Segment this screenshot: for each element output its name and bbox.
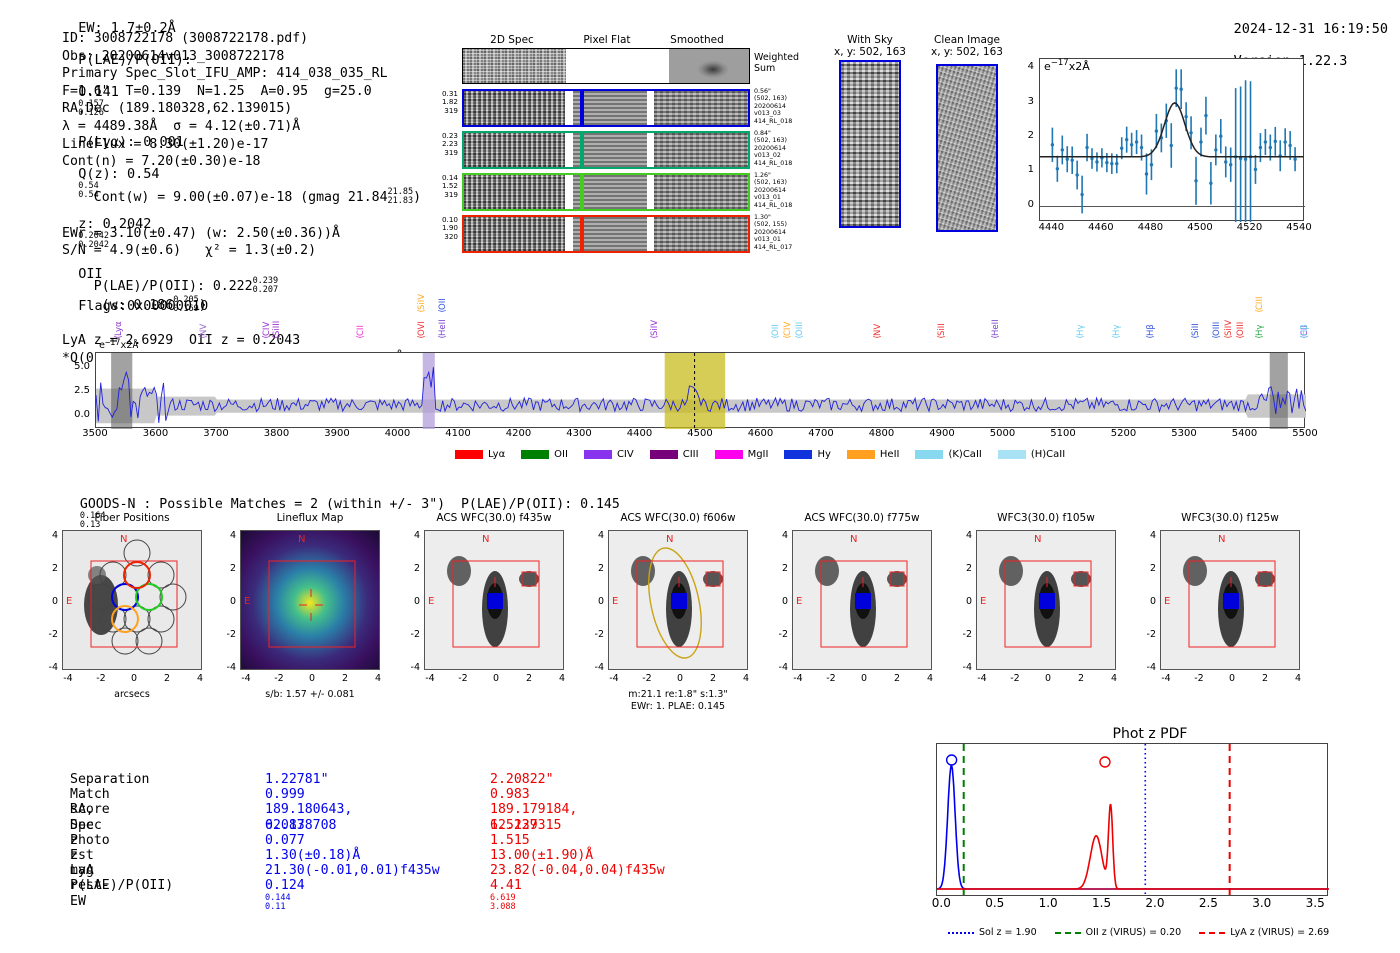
phot-z-legend-label: OII z (VIRUS) = 0.20: [1086, 927, 1182, 938]
emission-line-brace: (: [417, 309, 427, 313]
spectrum-x-tick: 5000: [978, 428, 1028, 439]
emission-line-label: NV: [199, 298, 209, 336]
emission-line-brace: (: [873, 335, 883, 339]
spectrum-x-tick: 3800: [252, 428, 302, 439]
phot-z-legend-swatch: [1199, 932, 1225, 934]
fiber-center-marker: [580, 173, 584, 211]
legend-swatch: [915, 450, 943, 459]
summed-smoothed-image: [669, 49, 749, 83]
spectrum-x-tick: 3900: [312, 428, 362, 439]
emission-line-brace: (: [1191, 335, 1201, 339]
emission-line-marker: OIII(: [1212, 298, 1222, 350]
match-1-value: 1.30(±0.18)Å: [265, 848, 360, 863]
phot-z-legend-swatch: [1055, 932, 1081, 934]
clean-image-image: [936, 64, 998, 232]
cutout-x-tick: -2: [89, 673, 113, 684]
with-sky-subtitle: x, y: 502, 163: [828, 46, 912, 58]
match-2-value: 1.515: [490, 833, 530, 848]
cutout-x-tick: 2: [701, 673, 725, 684]
info-line-id: ID: 3008722178 (3008722178.pdf): [62, 30, 421, 48]
spectrum-x-tick: 5100: [1038, 428, 1088, 439]
emission-line-brace: (: [795, 335, 805, 339]
match-2-value: 0.983: [490, 787, 530, 802]
spectrum-line-labels: Lyα(NV(CIV(SiIII(CII(OVI(SiIV(HeII(OII(S…: [95, 272, 1305, 352]
fiber-center-marker: [580, 131, 584, 169]
fiber-right-label-value: 20200614: [754, 103, 804, 110]
fiber-right-label-value: v013_03: [754, 110, 804, 117]
phot-z-x-tick: 3.0: [1237, 896, 1287, 910]
compass-north: N: [482, 534, 489, 545]
info-line-contw: Cont(w) = 9.00(±0.07)e-18 (gmag 21.8421.…: [62, 171, 421, 225]
emission-line-brace: (: [937, 335, 947, 339]
clean-image-title: Clean Image: [922, 34, 1012, 46]
cutout-x-tick: 0: [1220, 673, 1244, 684]
legend-swatch: [715, 450, 743, 459]
cutout-y-tick: -4: [400, 662, 420, 673]
fiber-right-label: 0.56"(502, 163)20200614v013_03414_RL_018: [754, 88, 804, 125]
spec2d-title-smoothed: Smoothed: [647, 34, 747, 46]
cutout-x-tick: 2: [155, 673, 179, 684]
emission-line-brace: (: [272, 335, 282, 339]
match-2-value: 23.82(-0.04,0.04)f435w: [490, 863, 665, 878]
cutout-x-tick: -4: [418, 673, 442, 684]
fiber-2dspec-image: [464, 133, 565, 167]
emission-line-marker: SiIII(: [272, 298, 282, 350]
fiber-smoothed-image: [654, 133, 748, 167]
fiber-smoothed-image: [654, 91, 748, 125]
cutout-y-tick: -4: [584, 662, 604, 673]
emission-line-label: Lyα: [114, 298, 124, 336]
full-spectrum-svg: [96, 353, 1306, 429]
compass-north: N: [666, 534, 673, 545]
spectrum-x-tick: 5400: [1220, 428, 1270, 439]
phot-z-plot: [936, 743, 1328, 896]
compass-north: N: [1218, 534, 1225, 545]
phot-z-legend-label: Sol z = 1.90: [979, 927, 1037, 938]
phot-z-x-tick: 0.0: [916, 896, 966, 910]
emission-line-brace: (: [1212, 335, 1222, 339]
fiber-left-label: 0.101.90320: [424, 216, 458, 241]
compass-east: E: [244, 596, 250, 607]
info-line-radec: RA,Dec (189.180328,62.139015): [62, 100, 421, 118]
legend-swatch: [784, 450, 812, 459]
spectrum-x-tick: 4700: [796, 428, 846, 439]
spectrum-flux-annotation: e−17x2Å: [99, 340, 138, 351]
emission-line-brace: (: [417, 335, 427, 339]
info-line-params: F=1.6" T=0.139 N=1.25 A=0.95 g=25.0: [62, 83, 421, 101]
cutout-y-tick: -4: [1136, 662, 1156, 673]
emission-line-brace: (: [1224, 335, 1234, 339]
fiber-right-label-value: (502, 163): [754, 95, 804, 102]
fiber-right-label-value: 0.84": [754, 130, 804, 137]
cutout-y-tick: 0: [952, 596, 972, 607]
cutout-y-tick: -2: [216, 629, 236, 640]
emission-line-label: CII: [356, 298, 366, 336]
lineflux-overlay: [241, 531, 380, 670]
cutout-y-tick: 2: [400, 563, 420, 574]
line-fit-plot-ticks: 44404460448045004520454001234e−17x2Å: [1000, 50, 1340, 240]
fiber-left-label: 0.311.82319: [424, 90, 458, 115]
cutout-y-tick: -4: [952, 662, 972, 673]
gmag-bounds: 21.8521.83: [388, 188, 414, 206]
cutout-x-tick: 0: [300, 673, 324, 684]
x-tick-label: 4480: [1130, 222, 1170, 233]
hst-cutout-svg: [793, 531, 932, 670]
y-tick-label: 4: [1000, 61, 1034, 72]
cutout-title: WFC3(30.0) f105w: [956, 512, 1136, 524]
emission-line-brace: (: [783, 335, 793, 339]
compass-east: E: [66, 596, 72, 607]
legend-swatch: [998, 450, 1026, 459]
fiber-gap-2: [647, 133, 654, 167]
fiber-gap: [565, 217, 573, 251]
spectrum-x-tick: 4300: [554, 428, 604, 439]
spectrum-x-tick: 4200: [494, 428, 544, 439]
legend-label: CIV: [617, 449, 634, 460]
emission-line-label: OIII: [795, 298, 805, 336]
emission-line-marker: SiII(: [1191, 298, 1201, 350]
phot-z-ticks: 0.00.51.01.52.02.53.03.5: [900, 896, 1370, 916]
fiber-pixelflat-image: [573, 133, 647, 167]
cutout-x-tick: 0: [1036, 673, 1060, 684]
info-line-obs: Obs: 20200614v013_3008722178: [62, 48, 421, 66]
cutout-x-tick: -4: [1154, 673, 1178, 684]
emission-line-marker: Hγ(: [1255, 298, 1265, 350]
phot-z-x-tick: 1.0: [1023, 896, 1073, 910]
cutout-x-tick: -4: [234, 673, 258, 684]
fiber-right-label-value: 414_RL_017: [754, 244, 804, 251]
cutout-y-tick: 4: [400, 530, 420, 541]
emission-line-label: OIII: [1236, 298, 1246, 336]
legend-label: MgII: [748, 449, 769, 460]
emission-line-label: SiII: [1191, 298, 1201, 336]
cutout-x-tick: 2: [1253, 673, 1277, 684]
emission-line-marker: SiII(: [937, 298, 947, 350]
emission-line-label: CIV: [783, 298, 793, 336]
match-1-value: 0.087: [265, 818, 305, 833]
cutout-y-tick: 2: [584, 563, 604, 574]
emission-line-label: SiIV: [650, 298, 660, 336]
spectrum-x-tick: 4600: [736, 428, 786, 439]
legend-swatch: [847, 450, 875, 459]
fiber-right-label-value: 20200614: [754, 145, 804, 152]
cutout-x-tick: 0: [668, 673, 692, 684]
fiber-right-label: 1.30"(502, 155)20200614v013_01414_RL_017: [754, 214, 804, 251]
compass-north: N: [1034, 534, 1041, 545]
cutout-y-tick: -2: [584, 629, 604, 640]
fiber-right-label-value: 20200614: [754, 229, 804, 236]
match-1-value: 0.999: [265, 787, 305, 802]
cutout-y-tick: 0: [400, 596, 420, 607]
cutout-xlabel: arcsecs: [42, 689, 222, 700]
timestamp: 2024-12-31 16:19:50: [1234, 21, 1388, 37]
y-tick-label: 1: [1000, 164, 1034, 175]
cutout-title: WFC3(30.0) f125w: [1140, 512, 1320, 524]
fiber-cutout-row: [462, 173, 750, 211]
with-sky-title: With Sky: [828, 34, 912, 46]
spectrum-legend: LyαOIICIVCIIIMgIIHyHeII(K)CaII(H)CaII: [455, 444, 1081, 463]
cutout-image: [424, 530, 564, 670]
info-line-sn: S/N = 4.9(±0.6) χ² = 1.3(±0.2): [62, 242, 421, 260]
emission-line-label: Hγ: [1255, 298, 1265, 336]
match-1-value: 1.22781": [265, 772, 329, 787]
legend-label: CIII: [683, 449, 699, 460]
cutout-title: ACS WFC(30.0) f435w: [404, 512, 584, 524]
emission-line-brace: (: [771, 335, 781, 339]
legend-label: Hy: [817, 449, 830, 460]
cutout-y-tick: -2: [38, 629, 58, 640]
cutout-y-tick: -2: [400, 629, 420, 640]
hst-cutout-svg: [609, 531, 748, 670]
cutout-y-tick: 4: [952, 530, 972, 541]
emission-line-label: Hβ: [1146, 298, 1156, 336]
info-line-lineflux: LineFlux = 8.30(±1.20)e-17: [62, 136, 421, 154]
emission-line-marker: NV(: [199, 298, 209, 350]
match-2-value: 2.20822": [490, 772, 554, 787]
cutout-x-tick: -2: [267, 673, 291, 684]
x-tick-label: 4540: [1279, 222, 1319, 233]
spectrum-x-tick: 3600: [131, 428, 181, 439]
cutout-subtitle-1: s/b: 1.57 +/- 0.081: [200, 689, 420, 700]
phot-z-x-tick: 3.5: [1290, 896, 1340, 910]
hst-cutout-svg: [1161, 531, 1300, 670]
fiber-2dspec-image: [464, 91, 565, 125]
full-spectrum-plot: [95, 352, 1305, 428]
emission-line-label: OIII: [1212, 298, 1222, 336]
emission-line-marker: CII(: [356, 298, 366, 350]
emission-line-label: Hγ: [1112, 298, 1122, 336]
spectrum-y-tick: 5.0: [62, 361, 90, 372]
legend-label: HeII: [880, 449, 900, 460]
fiber-right-label: 1.26"(502, 163)20200614v013_01414_RL_018: [754, 172, 804, 209]
fiber-left-label: 0.232.23319: [424, 132, 458, 157]
legend-swatch: [455, 450, 483, 459]
cutout-y-tick: 4: [216, 530, 236, 541]
cutout-x-tick: 0: [852, 673, 876, 684]
fiber-left-label-value: 320: [424, 233, 458, 241]
emission-line-label: NV: [873, 298, 883, 336]
legend-label: OII: [554, 449, 568, 460]
emission-line-marker: NV(: [873, 298, 883, 350]
phot-z-x-tick: 0.5: [970, 896, 1020, 910]
fiber-2dspec-image: [464, 175, 565, 209]
emission-line-marker: CIV(: [783, 298, 793, 350]
y-tick-label: 3: [1000, 96, 1034, 107]
fiber-right-label-value: (502, 155): [754, 221, 804, 228]
cutout-x-tick: 2: [885, 673, 909, 684]
emission-line-label: OII: [438, 272, 448, 310]
cutout-x-tick: -4: [56, 673, 80, 684]
cutout-y-tick: -2: [1136, 629, 1156, 640]
weighted-sum-label: Weighted Sum: [754, 52, 799, 74]
emission-line-brace: (: [356, 335, 366, 339]
info-line-ewr: EWr = 3.10(±0.47) (w: 2.50(±0.36))Å: [62, 225, 421, 243]
cutout-x-tick: 4: [550, 673, 574, 684]
cutout-x-tick: 4: [734, 673, 758, 684]
spec2d-title-2dspec: 2D Spec: [462, 34, 562, 46]
cutout-x-tick: 2: [333, 673, 357, 684]
fiber-left-label-value: 319: [424, 107, 458, 115]
legend-label: Lyα: [488, 449, 505, 460]
legend-swatch: [650, 450, 678, 459]
cutout-x-tick: -2: [819, 673, 843, 684]
fiber-left-label-value: 319: [424, 149, 458, 157]
cutout-subtitle-1: m:21.1 re:1.8" s:1.3": [568, 689, 788, 700]
emission-line-marker: Hβ(: [1300, 298, 1310, 350]
fiber-right-label-value: 1.30": [754, 214, 804, 221]
fiber-gap: [565, 91, 573, 125]
x-tick-label: 4520: [1230, 222, 1270, 233]
emission-line-brace: (: [1076, 335, 1086, 339]
phot-z-svg: [937, 744, 1329, 897]
y-tick-label: 2: [1000, 130, 1034, 141]
spectrum-y-tick: 0.0: [62, 409, 90, 420]
flux-unit-annotation: e−17x2Å: [1044, 60, 1090, 73]
spectrum-x-tick: 4800: [857, 428, 907, 439]
cutout-title: ACS WFC(30.0) f775w: [772, 512, 952, 524]
fiber-cutout-row: [462, 131, 750, 169]
match-1-value: 0.1240.1440.11: [265, 878, 305, 911]
fiber-right-label: 0.84"(502, 163)20200614v013_02414_RL_018: [754, 130, 804, 167]
fiber-cutout-row: [462, 89, 750, 127]
match-1-value: 0.077: [265, 833, 305, 848]
emission-line-brace: (: [650, 335, 660, 339]
match-2-value: 13.00(±1.90)Å: [490, 848, 593, 863]
fiber-gap-2: [647, 175, 654, 209]
cutout-y-tick: 4: [1136, 530, 1156, 541]
fiber-right-label-value: 1.26": [754, 172, 804, 179]
compass-east: E: [428, 596, 434, 607]
cutout-x-tick: -2: [451, 673, 475, 684]
emission-line-brace: (: [1255, 335, 1265, 339]
info-line-contn: Cont(n) = 7.20(±0.30)e-18: [62, 153, 421, 171]
cutout-row: Fiber PositionsNE-4-4-2-2002244arcsecsLi…: [0, 512, 1400, 722]
fiber-right-label-value: 0.56": [754, 88, 804, 95]
spec2d-panel: 2D Spec Pixel Flat Smoothed: [462, 34, 752, 48]
cutout-image: [608, 530, 748, 670]
cutout-y-tick: 2: [38, 563, 58, 574]
info-line-lambda: λ = 4489.38Å σ = 4.12(±0.71)Å: [62, 118, 421, 136]
fiber-pixelflat-image: [573, 217, 647, 251]
cutout-y-tick: 0: [216, 596, 236, 607]
cutout-x-tick: -4: [970, 673, 994, 684]
legend-label: (K)CaII: [948, 449, 981, 460]
cutout-x-tick: -4: [786, 673, 810, 684]
clean-image-subtitle: x, y: 502, 163: [922, 46, 1012, 58]
fiber-pixelflat-image: [573, 175, 647, 209]
emission-line-brace: (: [1236, 335, 1246, 339]
cutout-image: [62, 530, 202, 670]
cutout-x-tick: 4: [366, 673, 390, 684]
emission-line-brace: (: [991, 335, 1001, 339]
spectrum-x-tick: 4000: [373, 428, 423, 439]
match-row-label: Separation: [70, 772, 149, 787]
cutout-y-tick: -2: [768, 629, 788, 640]
cutout-x-tick: -2: [1003, 673, 1027, 684]
fiber-right-label-value: 414_RL_018: [754, 160, 804, 167]
cutout-y-tick: -4: [216, 662, 236, 673]
fiber-smoothed-image: [654, 175, 748, 209]
fiber-left-label: 0.141.52319: [424, 174, 458, 199]
emission-line-label: SiIII: [272, 298, 282, 336]
cutout-title: Lineflux Map: [220, 512, 400, 524]
fiber-right-label-value: v013_02: [754, 152, 804, 159]
spectrum-x-tick: 3700: [191, 428, 241, 439]
emission-line-marker: HeII(: [991, 298, 1001, 350]
cutout-x-tick: -4: [602, 673, 626, 684]
fiber-left-label-value: 319: [424, 191, 458, 199]
phot-z-x-tick: 2.0: [1130, 896, 1180, 910]
spec2d-title-pixelflat: Pixel Flat: [557, 34, 657, 46]
hst-cutout-svg: [977, 531, 1116, 670]
spectrum-x-tick: 5300: [1159, 428, 1209, 439]
fiber-center-marker: [580, 215, 584, 253]
fiber-cutout-row: [462, 215, 750, 253]
cutout-x-tick: -2: [1187, 673, 1211, 684]
cutout-y-tick: 4: [38, 530, 58, 541]
emission-line-label: OII: [771, 298, 781, 336]
phot-z-x-tick: 2.5: [1183, 896, 1233, 910]
spectrum-x-tick: 4400: [615, 428, 665, 439]
fiber-gap-2: [647, 91, 654, 125]
emission-line-marker: SiIV(: [417, 272, 427, 324]
fiber-gap-2: [647, 217, 654, 251]
with-sky-panel: With Sky x, y: 502, 163: [828, 34, 912, 228]
cutout-x-tick: 4: [1286, 673, 1310, 684]
summed-2dspec-image: [463, 49, 566, 83]
emission-line-brace: (: [1146, 335, 1156, 339]
fiber-center-marker: [580, 89, 584, 127]
compass-north: N: [120, 534, 127, 545]
fiber-2dspec-image: [464, 217, 565, 251]
emission-line-label: HeII: [991, 298, 1001, 336]
emission-line-brace: (: [1112, 335, 1122, 339]
clean-image-panel: Clean Image x, y: 502, 163: [922, 34, 1012, 58]
y-tick-label: 0: [1000, 199, 1034, 210]
cutout-x-tick: 4: [1102, 673, 1126, 684]
spectrum-x-tick: 4500: [675, 428, 725, 439]
fiber-smoothed-image: [654, 217, 748, 251]
fiber-right-label-value: 414_RL_018: [754, 202, 804, 209]
compass-east: E: [1164, 596, 1170, 607]
phot-z-title: Phot z PDF: [1030, 726, 1270, 742]
spectrum-x-tick: 4100: [433, 428, 483, 439]
emission-line-marker: SiIV(: [650, 298, 660, 350]
summed-pixelflat-image: [566, 49, 669, 83]
emission-line-marker: OIII(: [1236, 298, 1246, 350]
cutout-y-tick: 4: [768, 530, 788, 541]
x-tick-label: 4500: [1180, 222, 1220, 233]
fiber-gap: [565, 133, 573, 167]
emission-line-brace: (: [438, 335, 448, 339]
match-2-value: 4.416.6193.088: [490, 878, 522, 911]
emission-line-marker: Hγ(: [1076, 298, 1086, 350]
x-tick-label: 4440: [1031, 222, 1071, 233]
cutout-x-tick: 4: [188, 673, 212, 684]
catalog-summary-text: GOODS-N : Possible Matches = 2 (within +…: [80, 497, 620, 512]
emission-line-brace: (: [438, 309, 448, 313]
fiber-gap: [565, 175, 573, 209]
fiber-positions-svg: [63, 531, 202, 670]
emission-line-brace: (: [199, 335, 209, 339]
cutout-y-tick: 4: [584, 530, 604, 541]
cutout-x-tick: 4: [918, 673, 942, 684]
compass-east: E: [980, 596, 986, 607]
info-line-primary: Primary Spec_Slot_IFU_AMP: 414_038_035_R…: [62, 65, 421, 83]
cutout-y-tick: 0: [1136, 596, 1156, 607]
match-row-label: mag: [70, 863, 94, 878]
spectrum-x-tick: 5500: [1280, 428, 1330, 439]
